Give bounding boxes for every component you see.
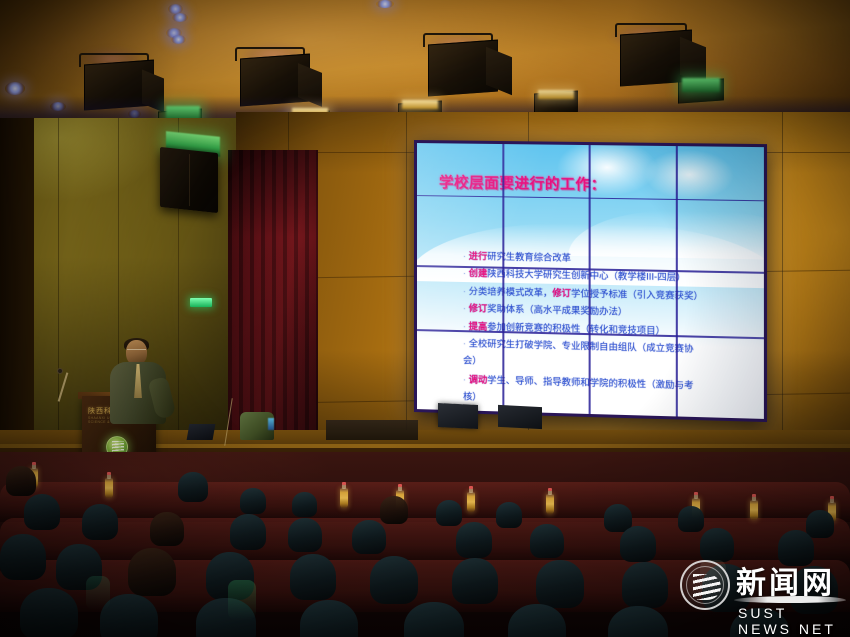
led-panel-seam [589,145,591,414]
slide-title: 学校层面要进行的工作： [439,171,606,195]
warm-light-glow [402,100,438,109]
bottle-cap [694,492,699,495]
audience-head [806,510,834,538]
audience-head [82,504,118,540]
exit-sign-icon [190,298,212,307]
line-array-speaker [160,147,218,213]
stage-wing-dark [0,118,34,458]
auditorium-photo: 学校层面要进行的工作： ·进行研究生教育综合改革 ·创建陕西科技大学研究生创新中… [0,0,850,637]
audience-head [292,492,317,517]
led-panel-seam [676,146,678,416]
bottle-cap [32,462,37,465]
list-item: ·全校研究生打破学院、专业限制自由组队（成立竞赛协会） [463,335,699,375]
audience-head [452,558,498,604]
watermark-english-text: SUST NEWS NET [738,605,846,637]
wall-seam [782,112,783,452]
audience-head [230,514,266,550]
seat-row [0,482,850,522]
audience-head [352,520,386,554]
sust-circular-emblem-icon [680,560,730,610]
audience-head [290,554,336,600]
water-bottle [105,478,113,498]
bullet-marker: · [463,287,466,296]
bottle-cap [107,472,112,475]
audience-head [678,506,704,532]
watermark-brush-stroke [734,596,846,603]
bullet-marker: · [463,269,466,278]
bullet-marker: · [463,252,466,261]
audience-head [240,488,266,514]
laptop [187,424,216,440]
audience-head [6,466,36,496]
downlight-icon [376,0,394,8]
wall-seam [406,112,407,452]
audience-head [496,502,522,528]
audience-head [0,534,46,580]
bottle-cap [398,484,403,487]
audience-head [178,472,208,502]
stage-monitor-right [498,405,542,429]
eyeglasses-icon [127,349,146,353]
audience-head [150,512,184,546]
speaker-divider [189,154,190,206]
warm-light-glow [538,90,574,99]
bottle-cap [548,488,553,491]
bottle-cap [752,494,757,497]
led-video-wall[interactable]: 学校层面要进行的工作： ·进行研究生教育综合改革 ·创建陕西科技大学研究生创新中… [414,140,767,422]
bullet-marker: · [463,339,466,348]
water-bottle [546,494,554,514]
stage-curtain [228,150,318,440]
audience-head [436,500,462,526]
audience-head [456,522,492,558]
emblem-stripes [693,574,721,600]
audience-head [128,548,176,596]
audience-lit-shirt [228,580,256,620]
downlight-icon [5,82,25,95]
audience-head [620,526,656,562]
downlight-icon [172,13,188,22]
bottle-cap [469,486,474,489]
audience-head [536,560,584,608]
bullet-marker: · [463,304,466,313]
audience-head [622,562,668,608]
audience-head [20,588,78,637]
stage-light-fixture [620,32,692,84]
bullet-marker: · [463,375,466,384]
audience-head [24,494,60,530]
water-bottle [467,492,475,512]
audience-head [288,518,322,552]
equipment-indicator-light [268,418,274,430]
stage-monitor-left [438,403,478,429]
news-watermark: 新闻网 SUST NEWS NET [680,556,846,628]
stage-desk [326,420,418,440]
water-bottle [750,500,758,520]
water-bottle [340,488,348,508]
audience-head [530,524,564,558]
downlight-icon [171,35,186,44]
presentation-slide: 学校层面要进行的工作： ·进行研究生教育综合改革 ·创建陕西科技大学研究生创新中… [417,143,764,419]
bottle-cap [342,482,347,485]
audience-lit-shirt [86,576,110,610]
led-panel-seam [502,144,504,412]
microphone-head-icon [57,368,63,374]
green-light-glow [682,78,720,92]
bottle-cap [830,496,835,499]
stage-light-fixture [428,42,498,94]
audience-head [370,556,418,604]
audience-head [380,496,408,524]
